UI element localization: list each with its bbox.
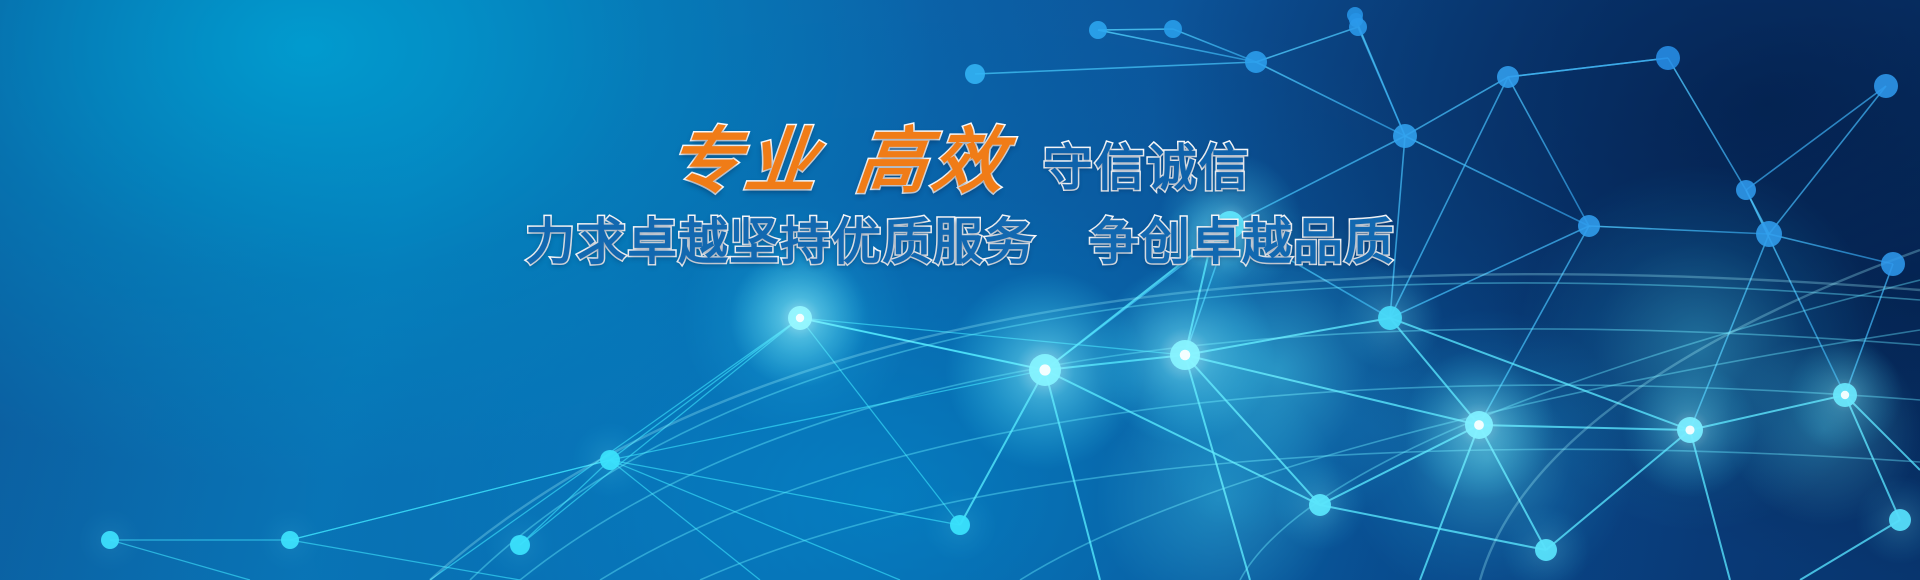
hero-banner: 专业 高效 守信诚信 力求卓越坚持优质服务 争创卓越品质 — [0, 0, 1920, 580]
background-glow — [0, 0, 1920, 580]
